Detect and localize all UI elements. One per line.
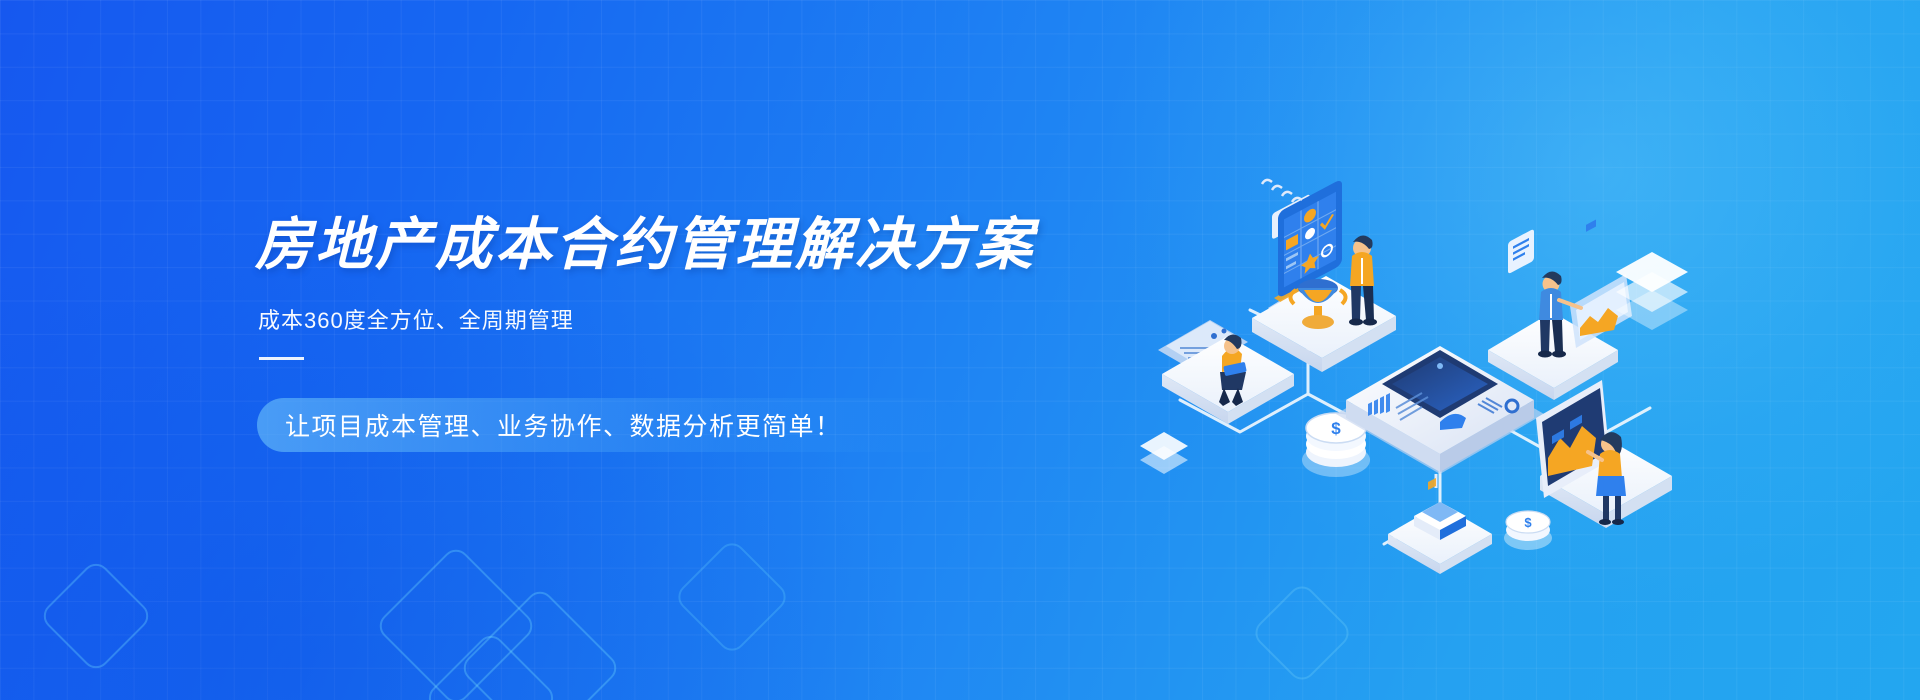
decorative-diamond-icon (38, 558, 154, 674)
decorative-diamond-icon (423, 630, 559, 700)
document-icon-small (1508, 229, 1534, 275)
decorative-diamond-icon (673, 538, 792, 657)
isometric-illustration: $ (1140, 160, 1700, 580)
decorative-diamond-icon (458, 586, 622, 700)
hero-content: 房地产成本合约管理解决方案 成本360度全方位、全周期管理 让项目成本管理、业务… (255, 215, 1015, 452)
cta-banner: 让项目成本管理、业务协作、数据分析更简单！ (257, 398, 1015, 452)
title-divider (259, 357, 304, 360)
page-title: 房地产成本合约管理解决方案 (255, 215, 1015, 277)
svg-text:$: $ (1331, 419, 1341, 438)
decorative-diamond-icon (374, 544, 538, 700)
plate-decoration-left (1140, 432, 1188, 474)
coin-stack-dollar-right: $ (1504, 511, 1552, 550)
decorative-diamond-icon (1250, 581, 1355, 686)
hero-banner: 房地产成本合约管理解决方案 成本360度全方位、全周期管理 让项目成本管理、业务… (0, 0, 1920, 700)
page-subtitle: 成本360度全方位、全周期管理 (258, 303, 1015, 335)
svg-text:$: $ (1524, 515, 1532, 530)
cta-label: 让项目成本管理、业务协作、数据分析更简单！ (285, 398, 842, 452)
chart-screen-small (1570, 220, 1632, 348)
small-cube-node (1388, 502, 1492, 574)
